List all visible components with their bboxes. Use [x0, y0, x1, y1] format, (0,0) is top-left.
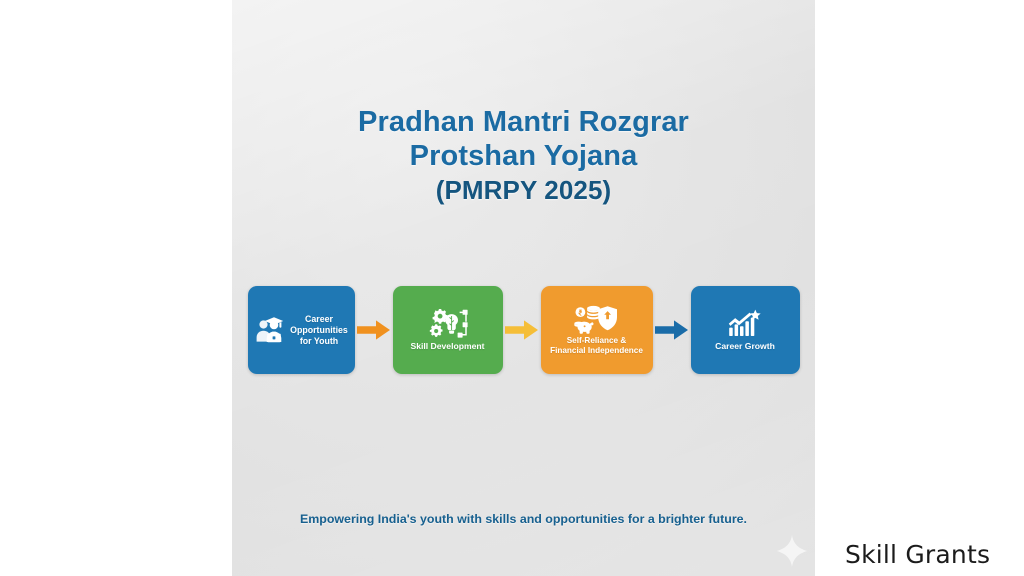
title-line-3: (PMRPY 2025)	[232, 173, 815, 207]
flow-step-label: Self-Reliance & Financial Independence	[550, 336, 643, 356]
flow-step-skill-development[interactable]: Skill Development	[393, 286, 503, 374]
flow-diagram: Career Opportunities for Youth	[232, 284, 815, 376]
arrow-3	[653, 315, 691, 345]
brand-caption: Skill Grants	[845, 540, 990, 569]
page-title: Pradhan Mantri Rozgrar Protshan Yojana (…	[232, 105, 815, 207]
growth-chart-star-icon	[727, 309, 763, 339]
arrow-2	[503, 315, 541, 345]
flow-step-career-opportunities[interactable]: Career Opportunities for Youth	[248, 286, 355, 374]
title-line-2: Protshan Yojana	[232, 139, 815, 173]
gears-brain-device-icon	[427, 309, 469, 339]
flow-step-label: Skill Development	[410, 341, 484, 352]
flow-step-career-growth[interactable]: Career Growth	[691, 286, 800, 374]
graduates-briefcase-icon	[254, 315, 286, 345]
coins-piggybank-shield-icon	[573, 304, 619, 334]
arrow-1	[355, 315, 393, 345]
flow-step-label: Career Growth	[715, 341, 775, 352]
tagline: Empowering India's youth with skills and…	[292, 510, 755, 528]
sparkle-icon	[774, 533, 810, 569]
infographic-card: Pradhan Mantri Rozgrar Protshan Yojana (…	[232, 0, 815, 576]
title-line-1: Pradhan Mantri Rozgrar	[232, 105, 815, 139]
flow-step-label: Career Opportunities for Youth	[290, 314, 348, 347]
flow-step-self-reliance[interactable]: Self-Reliance & Financial Independence	[541, 286, 653, 374]
